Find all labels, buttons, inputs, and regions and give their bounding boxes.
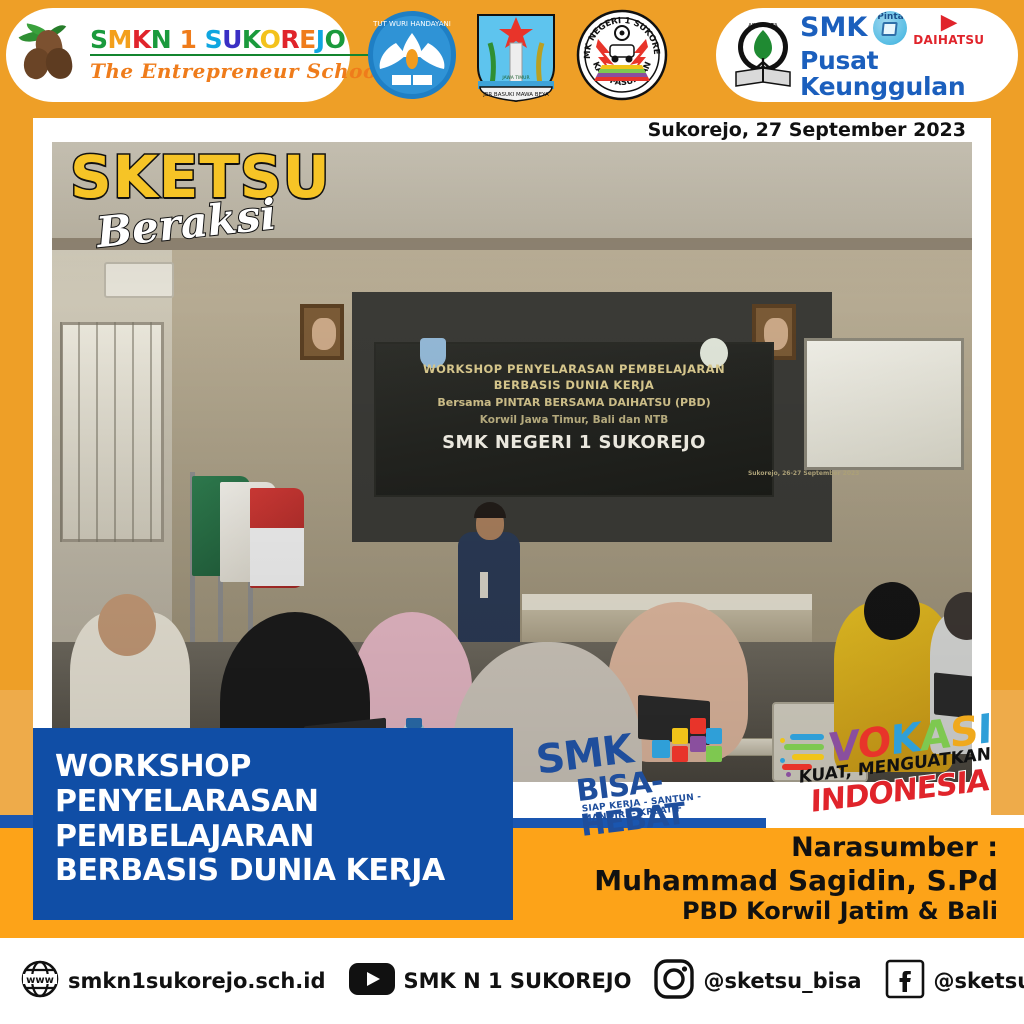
sketsu-beraksi-overlay: SKETSU Beraksi <box>70 148 331 242</box>
school-tagline: The Entrepreneur School <box>90 59 385 83</box>
title-line-2: PENYELARASAN <box>55 785 495 820</box>
provinsi-jawa-timur-crest-icon: JER BASUKI MAWA BEYA JAWA TIMUR <box>468 9 564 105</box>
title-line-4: BERBASIS DUNIA KERJA <box>55 854 495 889</box>
event-photo: WORKSHOP PENYELARASAN PEMBELAJARAN BERBA… <box>52 142 972 782</box>
globe-www-icon: www <box>20 959 60 1004</box>
website-label: smkn1sukorejo.sch.id <box>68 969 326 993</box>
partner-logos: SMK BISA-HEBAT SIAP KERJA - SANTUN - MAN… <box>530 712 992 816</box>
vokasi-kuat-logo: VOKASI KUAT, MENGUATKAN INDONESIA <box>780 712 992 812</box>
svg-text:JER BASUKI MAWA BEYA: JER BASUKI MAWA BEYA <box>482 92 549 98</box>
event-title-box: WORKSHOP PENYELARASAN PEMBELAJARAN BERBA… <box>33 728 513 920</box>
school-identity-pill: SMKN 1 SUKOREJO The Entrepreneur School <box>6 8 350 102</box>
header-bar: SMKN 1 SUKOREJO The Entrepreneur School … <box>0 0 1024 110</box>
title-line-3: PEMBELAJARAN <box>55 820 495 855</box>
coffee-bean-logo-icon <box>22 26 80 84</box>
youtube-label: SMK N 1 SUKOREJO <box>404 969 632 993</box>
pintar-logo-icon: Pintar <box>873 11 907 45</box>
svg-text:ADIWIYATA: ADIWIYATA <box>748 23 778 29</box>
adiwiyata-logo-icon: ADIWIYATA <box>732 20 794 90</box>
narasumber-block: Narasumber : Muhammad Sagidin, S.Pd PBD … <box>478 832 998 926</box>
pk-smk-label: SMK <box>800 14 867 42</box>
svg-text:JAWA TIMUR: JAWA TIMUR <box>501 75 529 81</box>
daihatsu-logo-icon: ▸ DAIHATSU <box>913 10 984 47</box>
social-footer: www smkn1sukorejo.sch.id SMK N 1 SUKOREJ… <box>0 938 1024 1024</box>
facebook-icon <box>884 958 926 1005</box>
website-item[interactable]: www smkn1sukorejo.sch.id <box>20 959 326 1004</box>
facebook-item[interactable]: @sketsu.bisa <box>884 958 1024 1005</box>
instagram-label: @sketsu_bisa <box>703 969 861 993</box>
title-line-1: WORKSHOP <box>55 750 495 785</box>
narasumber-name: Muhammad Sagidin, S.Pd <box>478 864 998 897</box>
smk-negeri-1-sukorejo-crest-icon: SMK NEGERI 1 SUKOREJO KAB. PASURUAN <box>576 9 668 101</box>
pusat-keunggulan-label: Pusat Keunggulan <box>800 48 1018 101</box>
svg-text:www: www <box>26 975 54 986</box>
pusat-keunggulan-pill: ADIWIYATA SMK Pintar ▸ DAIHATSU Pusat Ke… <box>716 8 1018 102</box>
narasumber-role: PBD Korwil Jatim & Bali <box>478 897 998 926</box>
school-name: SMKN 1 SUKOREJO <box>90 27 385 56</box>
smk-bisa-hebat-logo: SMK BISA-HEBAT SIAP KERJA - SANTUN - MAN… <box>536 718 746 810</box>
instagram-icon <box>653 958 695 1005</box>
daihatsu-label: DAIHATSU <box>913 34 984 47</box>
youtube-icon <box>348 961 396 1002</box>
svg-text:TUT WURI HANDAYANI: TUT WURI HANDAYANI <box>372 20 451 28</box>
tut-wuri-handayani-crest-icon: TUT WURI HANDAYANI <box>366 9 458 101</box>
narasumber-label: Narasumber : <box>478 832 998 864</box>
youtube-item[interactable]: SMK N 1 SUKOREJO <box>348 961 632 1002</box>
event-date: Sukorejo, 27 September 2023 <box>648 118 966 142</box>
facebook-label: @sketsu.bisa <box>934 969 1024 993</box>
instagram-item[interactable]: @sketsu_bisa <box>653 958 861 1005</box>
